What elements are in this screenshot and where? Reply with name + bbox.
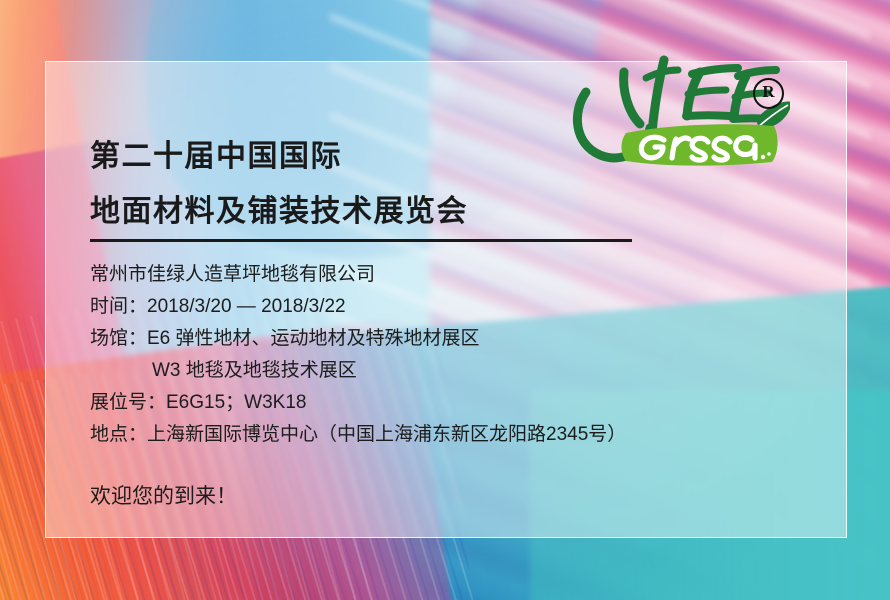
page-title: 第二十届中国国际 地面材料及铺装技术展览会 [90,129,468,239]
company-name: 常州市佳绿人造草坪地毯有限公司 [90,259,626,291]
venue-line-1: 场馆：E6 弹性地材、运动地材及特殊地材展区 [90,323,626,355]
exhibition-poster: 第二十届中国国际 地面材料及铺装技术展览会 常州市佳绿人造草坪地毯有限公司 时间… [0,0,890,600]
venue-address: 地点：上海新国际博览中心（中国上海浦东新区龙阳路2345号） [90,419,626,451]
venue-line-2: W3 地毯及地毯技术展区 [90,355,626,387]
brand-logo: R [560,20,790,170]
event-dates: 时间：2018/3/20 — 2018/3/22 [90,291,626,323]
title-divider [90,239,632,242]
page-title-line-2: 地面材料及铺装技术展览会 [90,195,468,228]
page-title-line-1: 第二十届中国国际 [90,140,342,173]
welcome-message: 欢迎您的到来！ [90,480,237,510]
details-block: 常州市佳绿人造草坪地毯有限公司 时间：2018/3/20 — 2018/3/22… [90,259,626,451]
booth-number: 展位号：E6G15；W3K18 [90,387,626,419]
registered-trademark-icon: R [753,78,784,109]
